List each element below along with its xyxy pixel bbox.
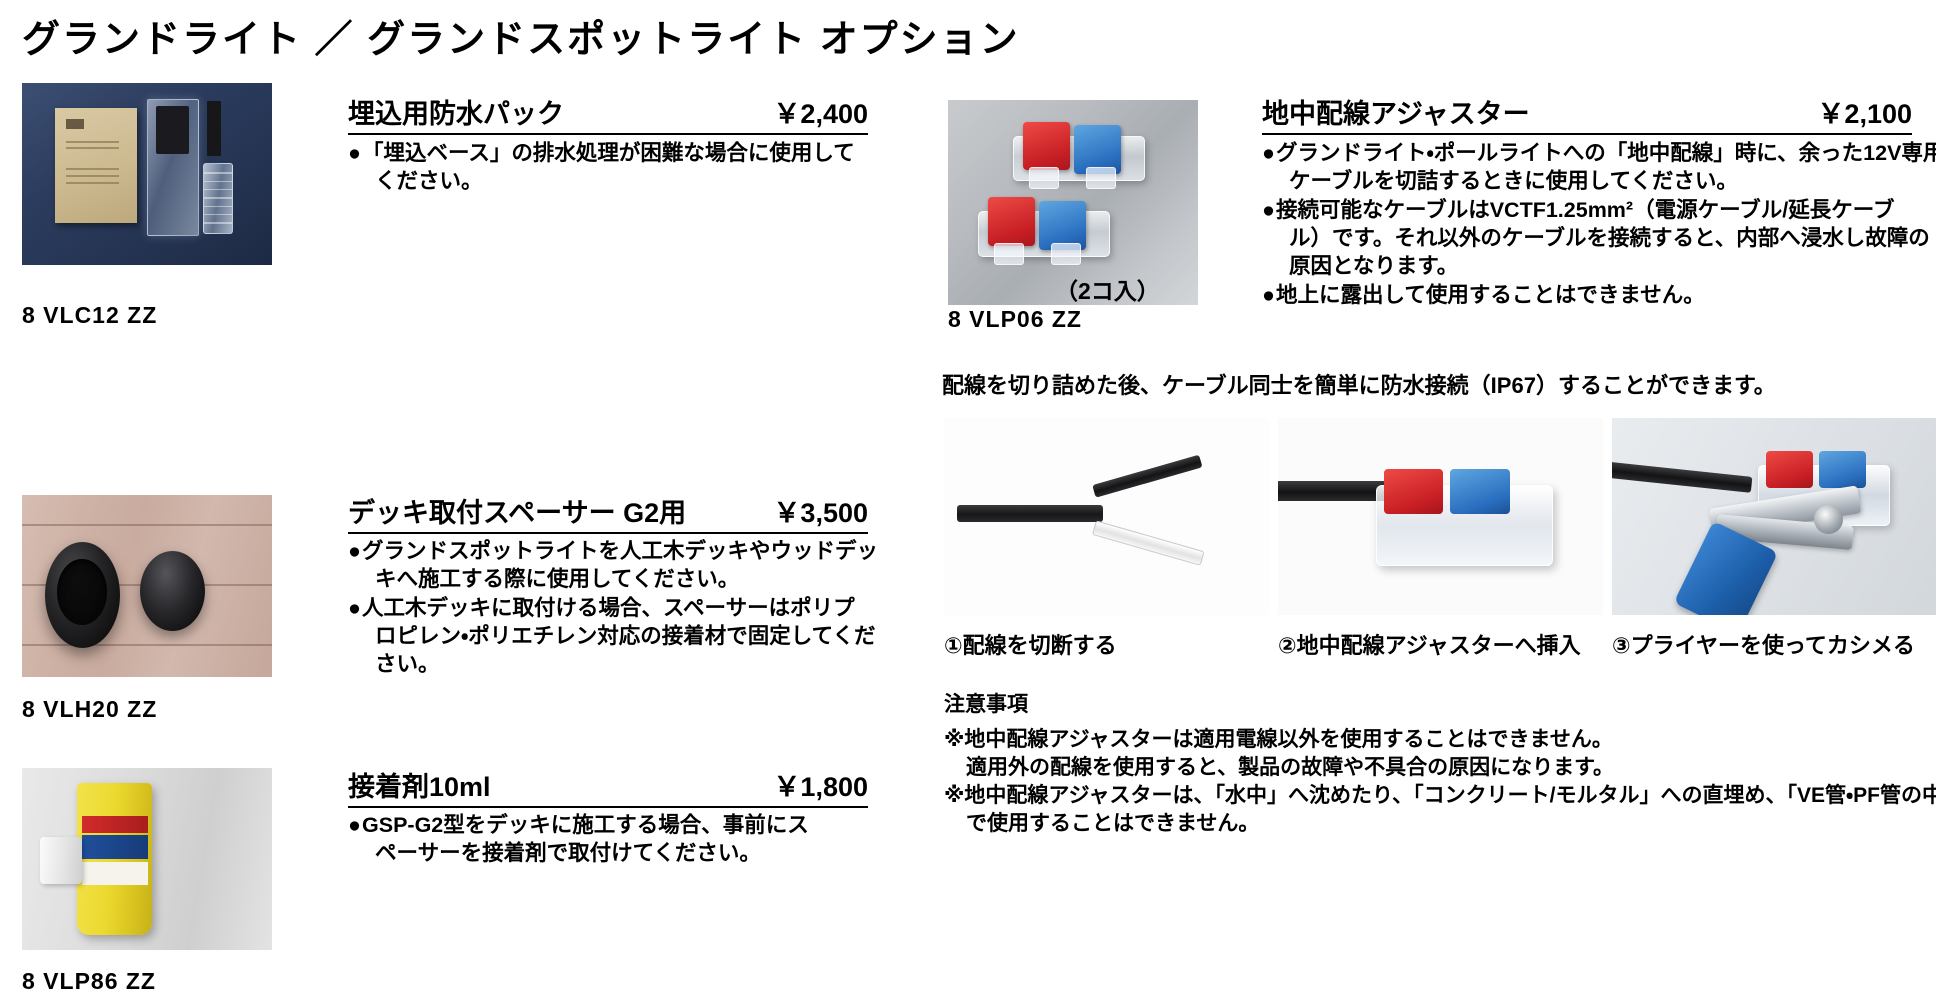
product-name-adhesive: 接着剤10ml — [348, 765, 491, 804]
bullet-text: GSP-G2型をデッキに施工する場合、事前にス ペーサーを接着剤で取付けてくださ… — [362, 812, 893, 868]
photo-part-label-red — [82, 816, 148, 833]
bullet-marker-icon: ● — [348, 812, 361, 868]
photo-art-adhesive — [22, 768, 272, 950]
product-price-wiring-adjuster: ￥2,100 — [1817, 92, 1912, 131]
photo-part-tube — [203, 163, 233, 234]
bullet-marker-icon: ● — [348, 140, 361, 196]
product-header-waterproof-pack: 埋込用防水パック ￥2,400 — [348, 92, 868, 135]
product-header-wiring-adjuster: 地中配線アジャスター ￥2,100 — [1262, 92, 1912, 135]
bullet-marker-icon: ● — [1262, 140, 1275, 196]
step-caption-2: ②地中配線アジャスターへ挿入 — [1278, 628, 1581, 660]
photo-art-insert-adjuster — [1278, 418, 1603, 615]
photo-part-connector-upper — [1013, 118, 1143, 196]
note-line: ※地中配線アジャスターは適用電線以外を使用することはできません。 — [944, 726, 1934, 754]
photo-part-label-white — [82, 862, 148, 885]
photo-part-cable-sheath — [1612, 461, 1752, 492]
bullet-item: ● 人工木デッキに取付ける場合、スペーサーはポリプ ロピレン・ポリエチレン対応の… — [348, 595, 893, 679]
photo-part-tube-body — [77, 783, 152, 936]
product-code-adhesive: 8 VLP86 ZZ — [22, 968, 156, 995]
product-description-waterproof-pack: ● 「埋込ベース」の排水処理が困難な場合に使用して ください。 — [348, 140, 893, 197]
product-photo-deck-spacer — [22, 495, 272, 677]
product-price-deck-spacer: ￥3,500 — [773, 491, 868, 530]
photo-part-red-cap — [1023, 122, 1070, 170]
product-code-waterproof-pack: 8 VLC12 ZZ — [22, 302, 157, 329]
photo-part-spacer-ring — [45, 542, 120, 648]
note-line: ※地中配線アジャスターは、「水中」へ沈めたり、「コンクリート/モルタル」への直埋… — [944, 782, 1934, 810]
product-pack-count: （2コ入） — [1055, 272, 1160, 306]
product-description-adhesive: ● GSP-G2型をデッキに施工する場合、事前にス ペーサーを接着剤で取付けてく… — [348, 812, 893, 869]
note-line: 適用外の配線を使用すると、製品の故障や不具合の原因になります。 — [944, 754, 1934, 782]
photo-part-strip — [207, 101, 221, 156]
bullet-item: ● グランドスポットライトを人工木デッキやウッドデッ キへ施工する際に使用してく… — [348, 538, 893, 594]
photo-part-red-cap — [1766, 451, 1813, 488]
bullet-text: 人工木デッキに取付ける場合、スペーサーはポリプ ロピレン・ポリエチレン対応の接着… — [362, 595, 893, 679]
product-header-deck-spacer: デッキ取付スペーサー G2用 ￥3,500 — [348, 491, 868, 534]
product-description-wiring-adjuster: ● グランドライト・ポールライトへの「地中配線」時に、余った12V専用 ケーブル… — [1262, 140, 1927, 311]
product-name-wiring-adjuster: 地中配線アジャスター — [1262, 92, 1530, 131]
photo-part-red-cap — [1384, 469, 1444, 515]
photo-part-blue-cap — [1819, 451, 1866, 488]
bullet-marker-icon: ● — [1262, 282, 1275, 310]
product-photo-adhesive — [22, 768, 272, 950]
bullet-item: ● GSP-G2型をデッキに施工する場合、事前にス ペーサーを接着剤で取付けてく… — [348, 812, 893, 868]
page-title: グランドライト ／ グランドスポットライト オプション — [22, 8, 1020, 63]
product-photo-waterproof-pack — [22, 83, 272, 265]
bullet-item: ● 接続可能なケーブルはVCTF1.25mm²（電源ケーブル/延長ケーブ ル）で… — [1262, 197, 1927, 281]
bullet-item: ● 「埋込ベース」の排水処理が困難な場合に使用して ください。 — [348, 140, 893, 196]
waterproof-connection-note: 配線を切り詰めた後、ケーブル同士を簡単に防水接続（IP67）することができます。 — [942, 368, 1776, 400]
photo-part-black-wire — [1092, 455, 1202, 498]
photo-part-label-blue — [82, 835, 148, 859]
step-photo-crimp-pliers — [1612, 418, 1936, 615]
bullet-text: 「埋込ベース」の排水処理が困難な場合に使用して ください。 — [362, 140, 893, 196]
photo-part-blue-cap — [1450, 469, 1510, 515]
photo-part-cable-sheath — [957, 505, 1103, 523]
bullet-marker-icon: ● — [348, 595, 361, 679]
bullet-marker-icon: ● — [348, 538, 361, 594]
bullet-text: グランドスポットライトを人工木デッキやウッドデッ キへ施工する際に使用してくださ… — [362, 538, 893, 594]
product-code-wiring-adjuster: 8 VLP06 ZZ — [948, 306, 1082, 333]
notes-body: ※地中配線アジャスターは適用電線以外を使用することはできません。 適用外の配線を… — [944, 726, 1934, 838]
product-header-adhesive: 接着剤10ml ￥1,800 — [348, 765, 868, 808]
step-caption-1: ①配線を切断する — [944, 628, 1117, 660]
photo-part-connector — [1376, 485, 1554, 566]
bullet-text: グランドライト・ポールライトへの「地中配線」時に、余った12V専用 ケーブルを切… — [1276, 140, 1936, 196]
notes-title: 注意事項 — [944, 688, 1028, 718]
photo-part-spacer-cap — [140, 551, 205, 631]
product-description-deck-spacer: ● グランドスポットライトを人工木デッキやウッドデッ キへ施工する際に使用してく… — [348, 538, 893, 680]
photo-art-cut-cable — [944, 418, 1269, 615]
step-photo-insert-adjuster — [1278, 418, 1603, 615]
step-caption-3: ③プライヤーを使ってカシメる — [1612, 628, 1915, 660]
bullet-text: 地上に露出して使用することはできません。 — [1276, 282, 1927, 310]
bullet-item: ● 地上に露出して使用することはできません。 — [1262, 282, 1927, 310]
photo-part-logo — [66, 119, 84, 129]
photo-part-white-wire — [1091, 521, 1203, 566]
photo-part-plier-pivot — [1814, 505, 1843, 535]
photo-art-deck-spacer — [22, 495, 272, 677]
note-line: で使用することはできません。 — [944, 810, 1934, 838]
photo-part-manual — [55, 108, 138, 223]
photo-art-crimp-pliers — [1612, 418, 1936, 615]
product-code-deck-spacer: 8 VLH20 ZZ — [22, 696, 157, 723]
photo-part-connector-lower — [978, 194, 1108, 272]
photo-part-red-cap — [988, 197, 1035, 245]
product-price-adhesive: ￥1,800 — [773, 765, 868, 804]
bullet-marker-icon: ● — [1262, 197, 1275, 281]
bullet-item: ● グランドライト・ポールライトへの「地中配線」時に、余った12V専用 ケーブル… — [1262, 140, 1927, 196]
step-photo-cut-cable — [944, 418, 1269, 615]
product-name-deck-spacer: デッキ取付スペーサー G2用 — [348, 491, 686, 530]
photo-part-bag — [147, 99, 199, 236]
product-name-waterproof-pack: 埋込用防水パック — [348, 92, 564, 131]
product-price-waterproof-pack: ￥2,400 — [773, 92, 868, 131]
photo-art-waterproof-pack — [22, 83, 272, 265]
bullet-text: 接続可能なケーブルはVCTF1.25mm²（電源ケーブル/延長ケーブ ル）です。… — [1276, 197, 1930, 281]
photo-part-tube-cap — [40, 837, 83, 884]
photo-part-black-insert — [156, 106, 189, 154]
